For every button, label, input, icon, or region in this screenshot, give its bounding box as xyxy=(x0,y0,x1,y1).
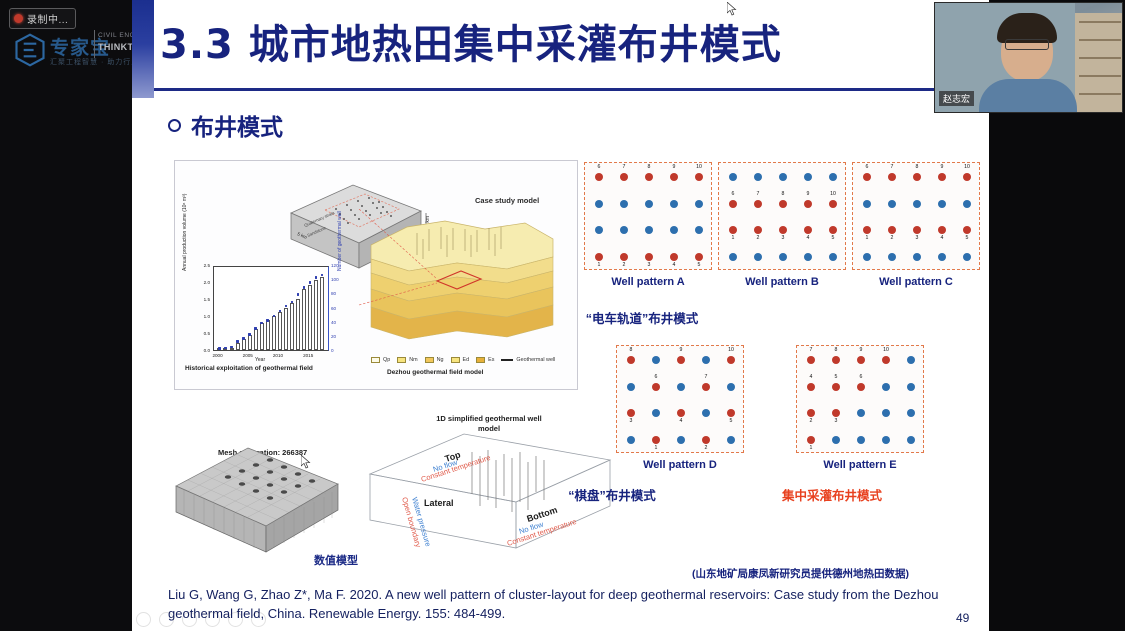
chart-marker xyxy=(236,340,239,343)
well-number-label: 9 xyxy=(937,164,947,170)
stop-icon[interactable] xyxy=(205,612,220,627)
chart-marker xyxy=(291,301,294,304)
well-pattern-a: 67891012345 xyxy=(584,162,712,270)
injection-well-dot xyxy=(702,356,710,364)
brand-logo: 专家宝 CIVIL ENGINEERING THINKTANK 汇聚工程智慧 ·… xyxy=(6,24,130,76)
chart-bar xyxy=(284,308,288,351)
injection-well-dot xyxy=(804,173,812,181)
well-number-label: 2 xyxy=(753,235,763,241)
injection-well-dot xyxy=(677,383,685,391)
chart-y-tick: 1.5 xyxy=(197,297,210,302)
chart-marker xyxy=(242,337,245,340)
injection-well-dot xyxy=(938,253,946,261)
production-well-dot xyxy=(695,253,703,261)
chart-y-tick: 0.5 xyxy=(197,331,210,336)
production-well-dot xyxy=(807,383,815,391)
production-well-dot xyxy=(677,409,685,417)
legend-label-es: Es xyxy=(488,357,494,363)
well-number-label: 10 xyxy=(962,164,972,170)
injection-well-dot xyxy=(645,226,653,234)
injection-well-dot xyxy=(779,173,787,181)
chart-bar xyxy=(272,316,276,350)
production-well-dot xyxy=(702,436,710,444)
chart-bar xyxy=(314,280,318,350)
terrain-caption: Dezhou geothermal field model xyxy=(387,369,483,376)
well-number-label: 6 xyxy=(651,374,661,380)
production-well-dot xyxy=(595,173,603,181)
well-pattern-e: 78910456231 xyxy=(796,345,924,453)
participant-name-label: 赵志宏 xyxy=(939,91,974,106)
well-number-label: 8 xyxy=(778,191,788,197)
injection-well-dot xyxy=(907,383,915,391)
section-bullet-label: 布井模式 xyxy=(191,108,283,142)
well-number-label: 10 xyxy=(694,164,704,170)
injection-well-dot xyxy=(963,200,971,208)
production-well-dot xyxy=(779,226,787,234)
chart-x-tick: 2000 xyxy=(212,353,222,358)
cube-logo-icon xyxy=(12,32,48,68)
injection-well-dot xyxy=(595,226,603,234)
production-well-dot xyxy=(888,226,896,234)
well-number-label: 6 xyxy=(862,164,872,170)
well-number-label: 6 xyxy=(594,164,604,170)
injection-well-dot xyxy=(882,409,890,417)
slide-canvas: 3.3 城市地热田集中采灌布井模式 布井模式 Case study model xyxy=(132,0,989,631)
injection-well-dot xyxy=(963,253,971,261)
well-number-label: 9 xyxy=(669,164,679,170)
production-well-dot xyxy=(832,356,840,364)
mouse-cursor-secondary-icon xyxy=(301,455,311,469)
well-pattern-label-d: Well pattern D xyxy=(616,459,744,471)
well-number-label: 3 xyxy=(831,418,841,424)
group2-caption-right: 集中采灌布井模式 xyxy=(732,485,932,504)
chart-y2-tick: 100 xyxy=(331,277,343,282)
injection-well-dot xyxy=(695,226,703,234)
well-number-label: 7 xyxy=(619,164,629,170)
injection-well-dot xyxy=(652,409,660,417)
chart-marker xyxy=(254,327,257,330)
well-number-label: 9 xyxy=(676,347,686,353)
production-well-dot xyxy=(652,436,660,444)
chart-y2-tick: 0 xyxy=(331,348,343,353)
chart-marker xyxy=(309,281,312,284)
chart-y-tick: 1.0 xyxy=(197,314,210,319)
well-number-label: 7 xyxy=(887,164,897,170)
well-number-label: 4 xyxy=(676,418,686,424)
well-number-label: 6 xyxy=(856,374,866,380)
injection-well-dot xyxy=(882,436,890,444)
chart-y2-tick: 20 xyxy=(331,334,343,339)
chart-bar xyxy=(308,285,312,350)
injection-well-dot xyxy=(857,409,865,417)
chart-caption: Historical exploitation of geothermal fi… xyxy=(185,365,313,372)
well-number-label: 1 xyxy=(594,262,604,268)
well-number-label: 4 xyxy=(806,374,816,380)
production-well-dot xyxy=(863,226,871,234)
well-number-label: 7 xyxy=(701,374,711,380)
injection-well-dot xyxy=(595,200,603,208)
well-number-label: 7 xyxy=(806,347,816,353)
chart-marker xyxy=(248,333,251,336)
injection-well-dot xyxy=(913,253,921,261)
injection-well-dot xyxy=(702,409,710,417)
data-source-note: (山东地矿局康凤新研究员提供德州地热田数据) xyxy=(692,566,909,581)
well-pattern-label-c: Well pattern C xyxy=(852,276,980,288)
well-pattern-label-a: Well pattern A xyxy=(584,276,712,288)
legend-swatch-nm xyxy=(397,357,406,363)
chart-y-axis-label: Annual production volume (10⁶ m³) xyxy=(182,194,188,271)
production-well-dot xyxy=(938,173,946,181)
chart-x-tick: 2005 xyxy=(243,353,253,358)
citation-text: Liu G, Wang G, Zhao Z*, Ma F. 2020. A ne… xyxy=(168,586,958,624)
production-well-dot xyxy=(620,253,628,261)
geothermal-well-line-icon xyxy=(501,359,513,361)
injection-well-dot xyxy=(677,436,685,444)
production-well-dot xyxy=(804,200,812,208)
production-well-dot xyxy=(863,173,871,181)
chart-bar xyxy=(236,343,240,350)
well-number-label: 2 xyxy=(619,262,629,268)
production-well-dot xyxy=(779,200,787,208)
injection-well-dot xyxy=(645,200,653,208)
well-number-label: 6 xyxy=(728,191,738,197)
production-well-dot xyxy=(695,173,703,181)
injection-well-dot xyxy=(670,226,678,234)
production-well-dot xyxy=(627,409,635,417)
chart-marker xyxy=(321,274,324,277)
production-well-dot xyxy=(729,200,737,208)
injection-well-dot xyxy=(882,383,890,391)
brand-divider xyxy=(94,30,95,58)
chart-marker xyxy=(273,315,276,318)
production-well-dot xyxy=(727,356,735,364)
production-well-dot xyxy=(804,226,812,234)
production-well-dot xyxy=(857,383,865,391)
injection-well-dot xyxy=(779,253,787,261)
production-well-dot xyxy=(829,226,837,234)
chart-y2-tick: 120 xyxy=(331,263,343,268)
legend-swatch-ng xyxy=(425,357,434,363)
numeric-model-caption: 数值模型 xyxy=(314,552,358,568)
well-number-label: 10 xyxy=(726,347,736,353)
play-icon[interactable] xyxy=(159,612,174,627)
slide-title: 3.3 城市地热田集中采灌布井模式 xyxy=(160,12,920,70)
injection-well-dot xyxy=(907,409,915,417)
well-number-label: 3 xyxy=(912,235,922,241)
well-number-label: 5 xyxy=(962,235,972,241)
injection-well-dot xyxy=(727,436,735,444)
zoom-icon[interactable] xyxy=(228,612,243,627)
production-well-dot xyxy=(729,226,737,234)
legend-swatch-ed xyxy=(451,357,460,363)
well-number-label: 7 xyxy=(753,191,763,197)
well-number-label: 4 xyxy=(669,262,679,268)
production-well-dot xyxy=(832,409,840,417)
production-well-dot xyxy=(627,356,635,364)
presenter-glasses xyxy=(1005,39,1049,50)
figure-legend: QpNmNgEdEs Geothermal well xyxy=(371,357,555,363)
chart-y2-tick: 40 xyxy=(331,320,343,325)
legend-label-ng: Ng xyxy=(437,357,444,363)
well-number-label: 2 xyxy=(701,445,711,451)
production-well-dot xyxy=(595,253,603,261)
boundary-lateral-label: Lateral xyxy=(424,498,454,508)
mouse-cursor-icon xyxy=(727,2,737,16)
production-well-dot xyxy=(963,226,971,234)
chart-x-tick: 2015 xyxy=(303,353,313,358)
left-branding-gutter: 录制中... 专家宝 CIVIL ENGINEERING THINKTANK 汇… xyxy=(0,0,132,631)
chart-plot-area xyxy=(213,266,329,351)
well-pattern-d: 89106734512 xyxy=(616,345,744,453)
legend-swatch-es xyxy=(476,357,485,363)
production-chart: Annual production volume (10⁶ m³) Number… xyxy=(183,261,351,373)
injection-well-dot xyxy=(829,253,837,261)
page-number: 49 xyxy=(956,611,969,625)
well-number-label: 5 xyxy=(828,235,838,241)
fullscreen-icon[interactable] xyxy=(251,612,266,627)
production-well-dot xyxy=(807,356,815,364)
production-well-dot xyxy=(702,383,710,391)
section-bullet: 布井模式 xyxy=(168,108,283,142)
well-number-label: 8 xyxy=(831,347,841,353)
well-number-label: 9 xyxy=(803,191,813,197)
video-bookshelf xyxy=(1075,13,1123,113)
injection-well-dot xyxy=(620,226,628,234)
injection-well-dot xyxy=(888,253,896,261)
well-number-label: 4 xyxy=(937,235,947,241)
chart-bar xyxy=(278,312,282,350)
injection-well-dot xyxy=(832,436,840,444)
chart-marker xyxy=(315,276,318,279)
chart-marker xyxy=(218,347,221,350)
production-well-dot xyxy=(888,173,896,181)
chart-bar xyxy=(320,277,324,350)
production-well-dot xyxy=(727,409,735,417)
production-well-dot xyxy=(829,200,837,208)
injection-well-dot xyxy=(727,383,735,391)
well-pattern-c: 67891012345 xyxy=(852,162,980,270)
injection-well-dot xyxy=(907,356,915,364)
player-controls[interactable] xyxy=(136,612,266,627)
well-number-label: 1 xyxy=(728,235,738,241)
production-well-dot xyxy=(807,436,815,444)
screen: 录制中... 专家宝 CIVIL ENGINEERING THINKTANK 汇… xyxy=(0,0,1125,631)
production-well-dot xyxy=(670,173,678,181)
chart-bar xyxy=(242,339,246,350)
production-well-dot xyxy=(857,356,865,364)
chart-bar xyxy=(266,320,270,350)
production-well-dot xyxy=(913,226,921,234)
legend-swatch-qp xyxy=(371,357,380,363)
well-number-label: 1 xyxy=(806,445,816,451)
injection-well-dot xyxy=(729,173,737,181)
well-number-label: 8 xyxy=(626,347,636,353)
well-number-label: 3 xyxy=(644,262,654,268)
production-well-dot xyxy=(882,356,890,364)
record-dot-icon xyxy=(14,14,23,23)
next-icon[interactable] xyxy=(182,612,197,627)
production-well-dot xyxy=(832,383,840,391)
injection-well-dot xyxy=(863,200,871,208)
well-pattern-label-b: Well pattern B xyxy=(718,276,846,288)
well-number-label: 5 xyxy=(726,418,736,424)
injection-well-dot xyxy=(857,436,865,444)
prev-icon[interactable] xyxy=(136,612,151,627)
legend-well-label: Geothermal well xyxy=(516,357,555,363)
presenter-video-tile[interactable]: 赵志宏 xyxy=(934,2,1123,113)
title-underline xyxy=(154,88,989,91)
well-pattern-label-e: Well pattern E xyxy=(796,459,924,471)
injection-well-dot xyxy=(620,200,628,208)
slide-accent-bar xyxy=(132,0,154,98)
injection-well-dot xyxy=(829,173,837,181)
production-well-dot xyxy=(652,383,660,391)
well-pattern-b: 67891012345 xyxy=(718,162,846,270)
well-number-label: 10 xyxy=(828,191,838,197)
chart-bar xyxy=(260,323,264,350)
production-well-dot xyxy=(938,226,946,234)
production-well-dot xyxy=(645,253,653,261)
well-number-label: 2 xyxy=(806,418,816,424)
well-number-label: 1 xyxy=(862,235,872,241)
injection-well-dot xyxy=(938,200,946,208)
chart-marker xyxy=(303,286,306,289)
injection-well-dot xyxy=(804,253,812,261)
chart-bar xyxy=(296,299,300,350)
injection-well-dot xyxy=(627,436,635,444)
legend-label-nm: Nm xyxy=(409,357,417,363)
chart-y-tick: 0.0 xyxy=(197,348,210,353)
well-number-label: 8 xyxy=(912,164,922,170)
mesh-model-diagram xyxy=(162,440,352,565)
well-number-label: 2 xyxy=(887,235,897,241)
ring-bullet-icon xyxy=(168,119,181,132)
chart-y2-tick: 80 xyxy=(331,291,343,296)
legend-label-qp: Qp xyxy=(383,357,390,363)
chart-marker xyxy=(266,319,269,322)
well-number-label: 3 xyxy=(626,418,636,424)
group2-caption-left: “棋盘”布井模式 xyxy=(512,485,712,504)
legend-label-ed: Ed xyxy=(463,357,470,363)
injection-well-dot xyxy=(754,253,762,261)
chart-bar xyxy=(254,329,258,350)
injection-well-dot xyxy=(754,173,762,181)
well-number-label: 10 xyxy=(881,347,891,353)
production-well-dot xyxy=(670,253,678,261)
geothermal-field-model xyxy=(357,209,562,359)
well-number-label: 5 xyxy=(694,262,704,268)
injection-well-dot xyxy=(863,253,871,261)
injection-well-dot xyxy=(652,356,660,364)
production-well-dot xyxy=(620,173,628,181)
chart-y-tick: 2.5 xyxy=(197,263,210,268)
case-study-label: Case study model xyxy=(475,196,539,205)
well-number-label: 9 xyxy=(856,347,866,353)
chart-marker xyxy=(297,293,300,296)
chart-bar xyxy=(230,348,234,350)
production-well-dot xyxy=(754,200,762,208)
injection-well-dot xyxy=(670,200,678,208)
injection-well-dot xyxy=(888,200,896,208)
well-number-label: 1 xyxy=(651,445,661,451)
injection-well-dot xyxy=(729,253,737,261)
production-well-dot xyxy=(963,173,971,181)
injection-well-dot xyxy=(913,200,921,208)
injection-well-dot xyxy=(695,200,703,208)
well-number-label: 4 xyxy=(803,235,813,241)
chart-marker xyxy=(224,347,227,350)
chart-bar xyxy=(290,303,294,350)
injection-well-dot xyxy=(907,436,915,444)
chart-y-tick: 2.0 xyxy=(197,280,210,285)
chart-x-axis-label: Year xyxy=(255,357,265,363)
chart-y2-tick: 60 xyxy=(331,306,343,311)
production-well-dot xyxy=(645,173,653,181)
production-well-dot xyxy=(807,409,815,417)
production-well-dot xyxy=(754,226,762,234)
presenter-torso xyxy=(979,79,1077,113)
chart-bar xyxy=(302,289,306,350)
well-number-label: 5 xyxy=(831,374,841,380)
well-number-label: 8 xyxy=(644,164,654,170)
chart-bar xyxy=(248,335,252,350)
production-well-dot xyxy=(913,173,921,181)
case-study-figure: Case study model 0.3 km 5 km 5 km Quater… xyxy=(174,160,578,390)
group1-caption: “电车轨道”布井模式 xyxy=(512,308,772,327)
injection-well-dot xyxy=(627,383,635,391)
well-number-label: 3 xyxy=(778,235,788,241)
chart-x-tick: 2010 xyxy=(273,353,283,358)
production-well-dot xyxy=(677,356,685,364)
